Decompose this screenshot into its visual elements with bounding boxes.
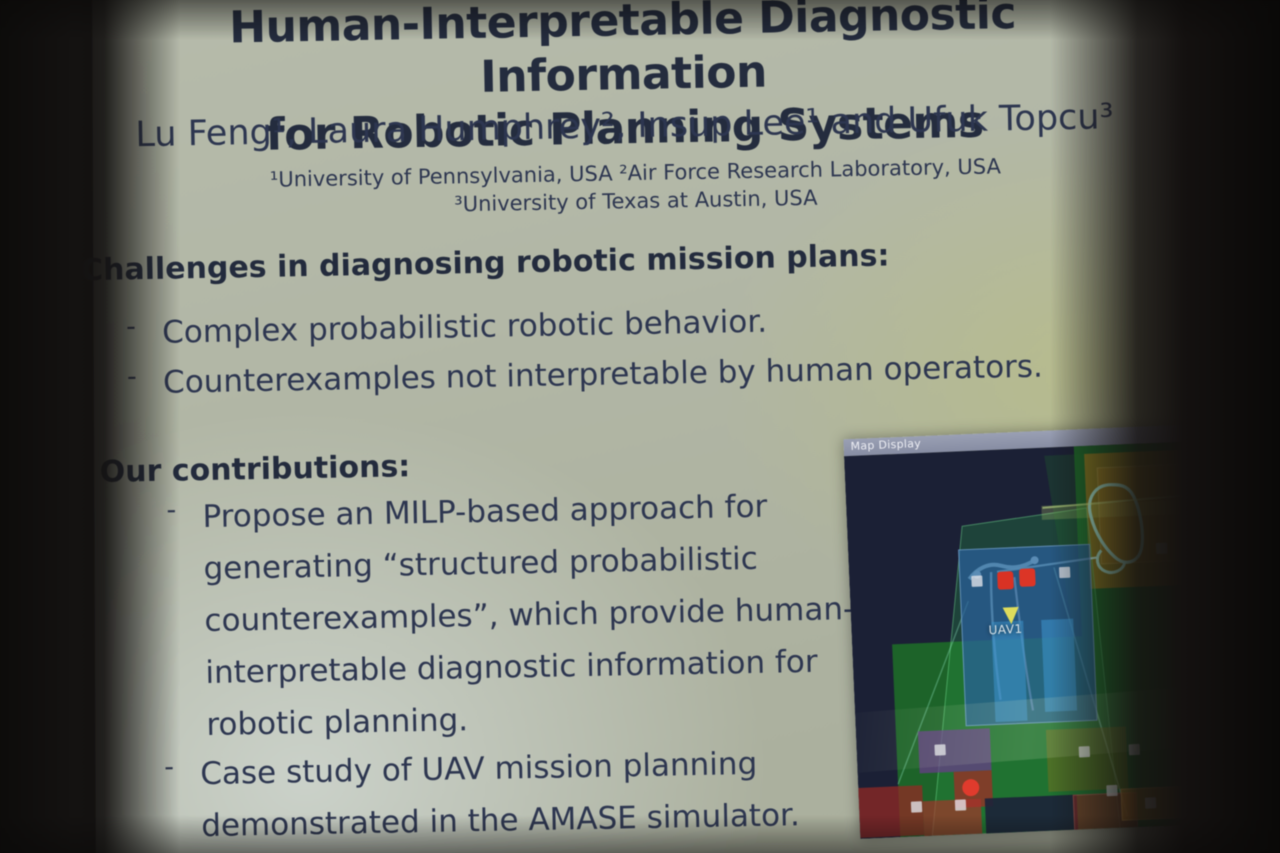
dash-marker-icon: -	[164, 748, 189, 786]
map-display-screenshot: Map Display	[843, 423, 1242, 839]
zone-olive-right	[1046, 726, 1129, 791]
list-item: - Propose an MILP-based approach for gen…	[166, 479, 871, 752]
zone-label-marker	[934, 744, 945, 755]
zone-label-marker	[1059, 567, 1070, 578]
list-item-text: Case study of UAV mission planning demon…	[200, 735, 906, 852]
section-heading-contributions: Our contributions:	[70, 448, 410, 492]
map-display-title-text: Map Display	[850, 437, 921, 453]
marker-red-threat	[997, 571, 1014, 590]
bullet-dot-icon	[71, 471, 78, 478]
bullet-dot-icon	[52, 270, 59, 277]
section-heading-text: Challenges in diagnosing robotic mission…	[81, 237, 890, 290]
dash-marker-icon: -	[126, 308, 151, 346]
uav-label-text: UAV1	[988, 622, 1023, 637]
section-heading-challenges: Challenges in diagnosing robotic mission…	[52, 237, 890, 290]
zone-label-marker	[911, 801, 922, 812]
dash-marker-icon: -	[127, 358, 152, 396]
zone-label-marker	[1129, 744, 1140, 755]
marker-red-threat	[1019, 568, 1036, 587]
section-heading-text: Our contributions:	[99, 448, 410, 492]
zone-label-marker	[971, 575, 982, 586]
zone-label-marker	[955, 799, 966, 810]
list-item: - Case study of UAV mission planning dem…	[164, 735, 906, 853]
projected-slide-photo: Human-Interpretable Diagnostic Informati…	[0, 0, 1280, 853]
map-canvas: UAV1	[844, 440, 1242, 839]
zone-blue-inner-b	[1041, 619, 1077, 712]
list-item-text: Propose an MILP-based approach for gener…	[202, 479, 871, 751]
zone-label-marker	[1145, 797, 1156, 808]
zone-purple	[918, 728, 992, 773]
zone-label-marker	[1106, 785, 1117, 796]
zone-label-marker	[1079, 746, 1090, 757]
slide-content: Human-Interpretable Diagnostic Informati…	[0, 0, 1280, 853]
dash-marker-icon: -	[166, 491, 191, 529]
zone-dark-navy	[985, 795, 1078, 834]
zone-red-mid	[923, 799, 982, 836]
